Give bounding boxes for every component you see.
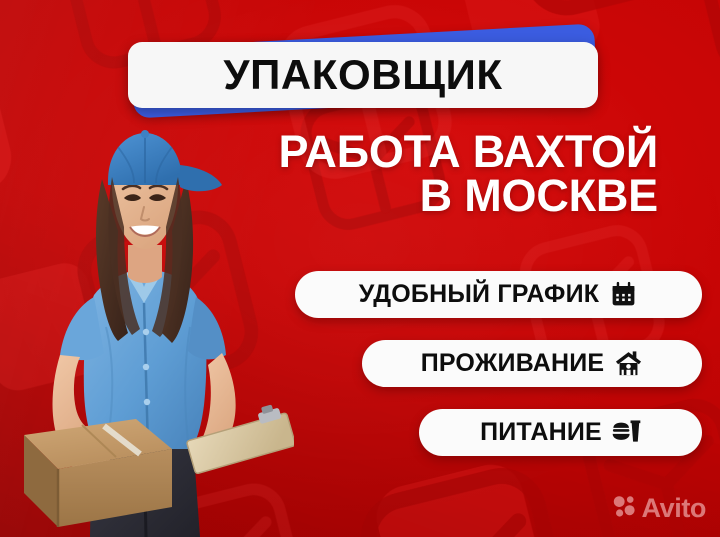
title-badge-plate: УПАКОВЩИК	[128, 42, 598, 108]
feature-label-accommodation: ПРОЖИВАНИЕ	[421, 351, 605, 376]
feature-label-schedule: УДОБНЫЙ ГРАФИК	[359, 282, 599, 307]
title-badge: УПАКОВЩИК	[128, 36, 600, 108]
house-icon	[614, 349, 643, 378]
cardboard-box	[24, 419, 172, 527]
job-title: УПАКОВЩИК	[223, 54, 502, 96]
work-shirt	[60, 268, 226, 449]
headline-line-2: В МОСКВЕ	[178, 174, 658, 218]
headline: РАБОТА ВАХТОЙ В МОСКВЕ	[178, 130, 658, 218]
feature-pill-meals: ПИТАНИЕ	[419, 409, 702, 456]
feature-pill-accommodation: ПРОЖИВАНИЕ	[362, 340, 702, 387]
avito-wordmark: Avito	[642, 495, 707, 522]
avito-dots-icon	[613, 494, 637, 523]
feature-pill-schedule: УДОБНЫЙ ГРАФИК	[295, 271, 702, 318]
meal-icon	[612, 418, 641, 447]
avito-watermark: Avito	[613, 494, 707, 523]
feature-label-meals: ПИТАНИЕ	[480, 420, 602, 445]
calendar-icon	[609, 280, 638, 309]
job-ad-poster: УПАКОВЩИК РАБОТА ВАХТОЙ В МОСКВЕ УДОБНЫЙ…	[0, 0, 720, 537]
